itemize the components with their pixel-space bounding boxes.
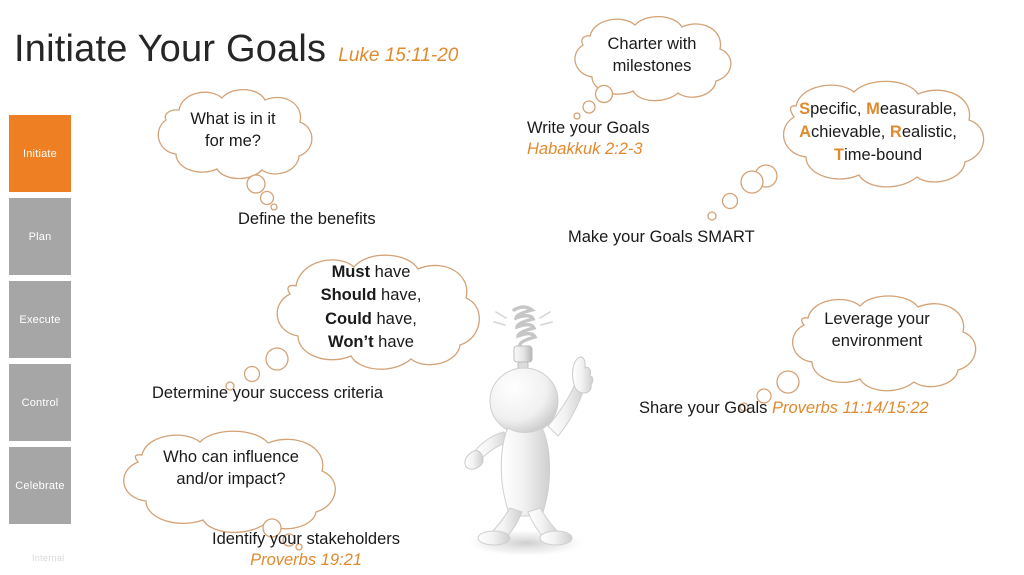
- page-title: Initiate Your Goals Luke 15:11-20: [14, 28, 458, 71]
- caption-text: Share your Goals: [639, 399, 767, 417]
- smart-initial-m: M: [866, 100, 880, 118]
- left-foot: [478, 531, 510, 545]
- moscow-keyword-must: Must: [332, 263, 371, 281]
- slide-canvas: Initiate Your Goals Luke 15:11-20 Initia…: [0, 0, 1024, 575]
- thought-cloud-charter: Charter with milestones: [552, 12, 752, 122]
- moscow-suffix: have,: [376, 286, 421, 304]
- caption-identify-stakeholders: Identify your stakeholders Proverbs 19:2…: [212, 529, 400, 572]
- caption-scripture-reference: Habakkuk 2:2-3: [527, 139, 650, 160]
- stage-item-execute[interactable]: Execute: [9, 281, 71, 358]
- moscow-suffix: have,: [372, 310, 417, 328]
- caption-define-benefits: Define the benefits: [238, 209, 376, 230]
- cloud-line: and/or impact?: [138, 468, 324, 490]
- caption-text: Determine your success criteria: [152, 384, 383, 402]
- smart-word-specific: pecific,: [810, 100, 866, 118]
- moscow-keyword-should: Should: [321, 286, 377, 304]
- cloud-line-moscow-4: Won’t have: [286, 331, 456, 354]
- smart-initial-r: R: [890, 123, 902, 141]
- smart-word-measurable: easurable,: [880, 100, 957, 118]
- stage-label: Celebrate: [15, 480, 65, 492]
- caption-text: Identify your stakeholders: [212, 530, 400, 548]
- caption-write-goals: Write your Goals Habakkuk 2:2-3: [527, 118, 650, 161]
- smart-word-achievable: chievable,: [811, 123, 890, 141]
- caption-scripture-reference: Proverbs 19:21: [212, 550, 400, 571]
- cloud-line-smart-1: Specific, Measurable,: [772, 98, 984, 121]
- title-text: Initiate Your Goals: [14, 28, 326, 71]
- smart-initial-s: S: [799, 100, 810, 118]
- title-scripture-reference: Luke 15:11-20: [338, 45, 458, 67]
- caption-text: Define the benefits: [238, 210, 376, 228]
- stage-item-plan[interactable]: Plan: [9, 198, 71, 275]
- caption-text: Make your Goals SMART: [568, 228, 755, 246]
- moscow-suffix: have: [370, 263, 410, 281]
- moscow-keyword-could: Could: [325, 310, 372, 328]
- cloud-line: What is in it: [160, 108, 306, 130]
- stage-item-initiate[interactable]: Initiate: [9, 115, 71, 192]
- idea-person-illustration: [452, 300, 632, 568]
- cloud-line-smart-3: Time-bound: [772, 144, 984, 167]
- cloud-line-moscow-3: Could have,: [286, 308, 456, 331]
- cloud-text-benefits: What is in it for me?: [160, 108, 306, 153]
- cloud-line: Charter with: [578, 33, 726, 55]
- caption-success-criteria: Determine your success criteria: [152, 383, 383, 404]
- stage-label: Plan: [29, 231, 52, 243]
- smart-word-realistic: ealistic,: [902, 123, 957, 141]
- caption-make-goals-smart: Make your Goals SMART: [568, 227, 755, 248]
- torso: [501, 428, 549, 516]
- stage-label: Execute: [19, 314, 60, 326]
- caption-scripture-reference: Proverbs 11:14/15:22: [772, 399, 929, 417]
- person-with-lightbulb-icon: [452, 300, 632, 568]
- stage-item-control[interactable]: Control: [9, 364, 71, 441]
- stage-label: Initiate: [23, 148, 57, 160]
- cloud-text-smart: Specific, Measurable, Achievable, Realis…: [772, 98, 984, 167]
- cloud-line: Who can influence: [138, 446, 324, 468]
- cloud-text-environment: Leverage your environment: [802, 308, 952, 353]
- thought-cloud-benefits: What is in it for me?: [132, 84, 332, 209]
- smart-initial-a: A: [799, 123, 811, 141]
- moscow-suffix: have: [374, 333, 414, 351]
- right-foot: [540, 531, 572, 545]
- thought-cloud-environment: Leverage your environment: [768, 292, 984, 412]
- cloud-text-moscow: Must have Should have, Could have, Won’t…: [286, 261, 456, 355]
- smart-word-timebound: ime-bound: [844, 146, 922, 164]
- left-hand: [465, 450, 483, 469]
- cloud-line-smart-2: Achievable, Realistic,: [772, 121, 984, 144]
- thought-bubble-trail-smart: [690, 168, 770, 228]
- head: [490, 368, 558, 434]
- cloud-text-stakeholders: Who can influence and/or impact?: [138, 446, 324, 491]
- thought-cloud-smart: Specific, Measurable, Achievable, Realis…: [742, 76, 1014, 211]
- moscow-keyword-wont: Won’t: [328, 333, 374, 351]
- cloud-line: for me?: [160, 130, 306, 152]
- cloud-line: milestones: [578, 55, 726, 77]
- cloud-line: Leverage your: [802, 308, 952, 330]
- caption-share-goals: Share your Goals Proverbs 11:14/15:22: [639, 398, 929, 419]
- cloud-line: environment: [802, 330, 952, 352]
- cloud-text-charter: Charter with milestones: [578, 33, 726, 78]
- caption-text: Write your Goals: [527, 119, 650, 137]
- cloud-line-moscow-2: Should have,: [286, 284, 456, 307]
- stage-label: Control: [22, 397, 59, 409]
- cloud-line-moscow-1: Must have: [286, 261, 456, 284]
- pointing-hand: [573, 357, 593, 393]
- lightbulb-icon: [514, 307, 535, 369]
- stage-item-celebrate[interactable]: Celebrate: [9, 447, 71, 524]
- footer-classification-note: Internal: [32, 553, 64, 563]
- stage-rail: Initiate Plan Execute Control Celebrate: [9, 115, 71, 530]
- smart-initial-t: T: [834, 146, 844, 164]
